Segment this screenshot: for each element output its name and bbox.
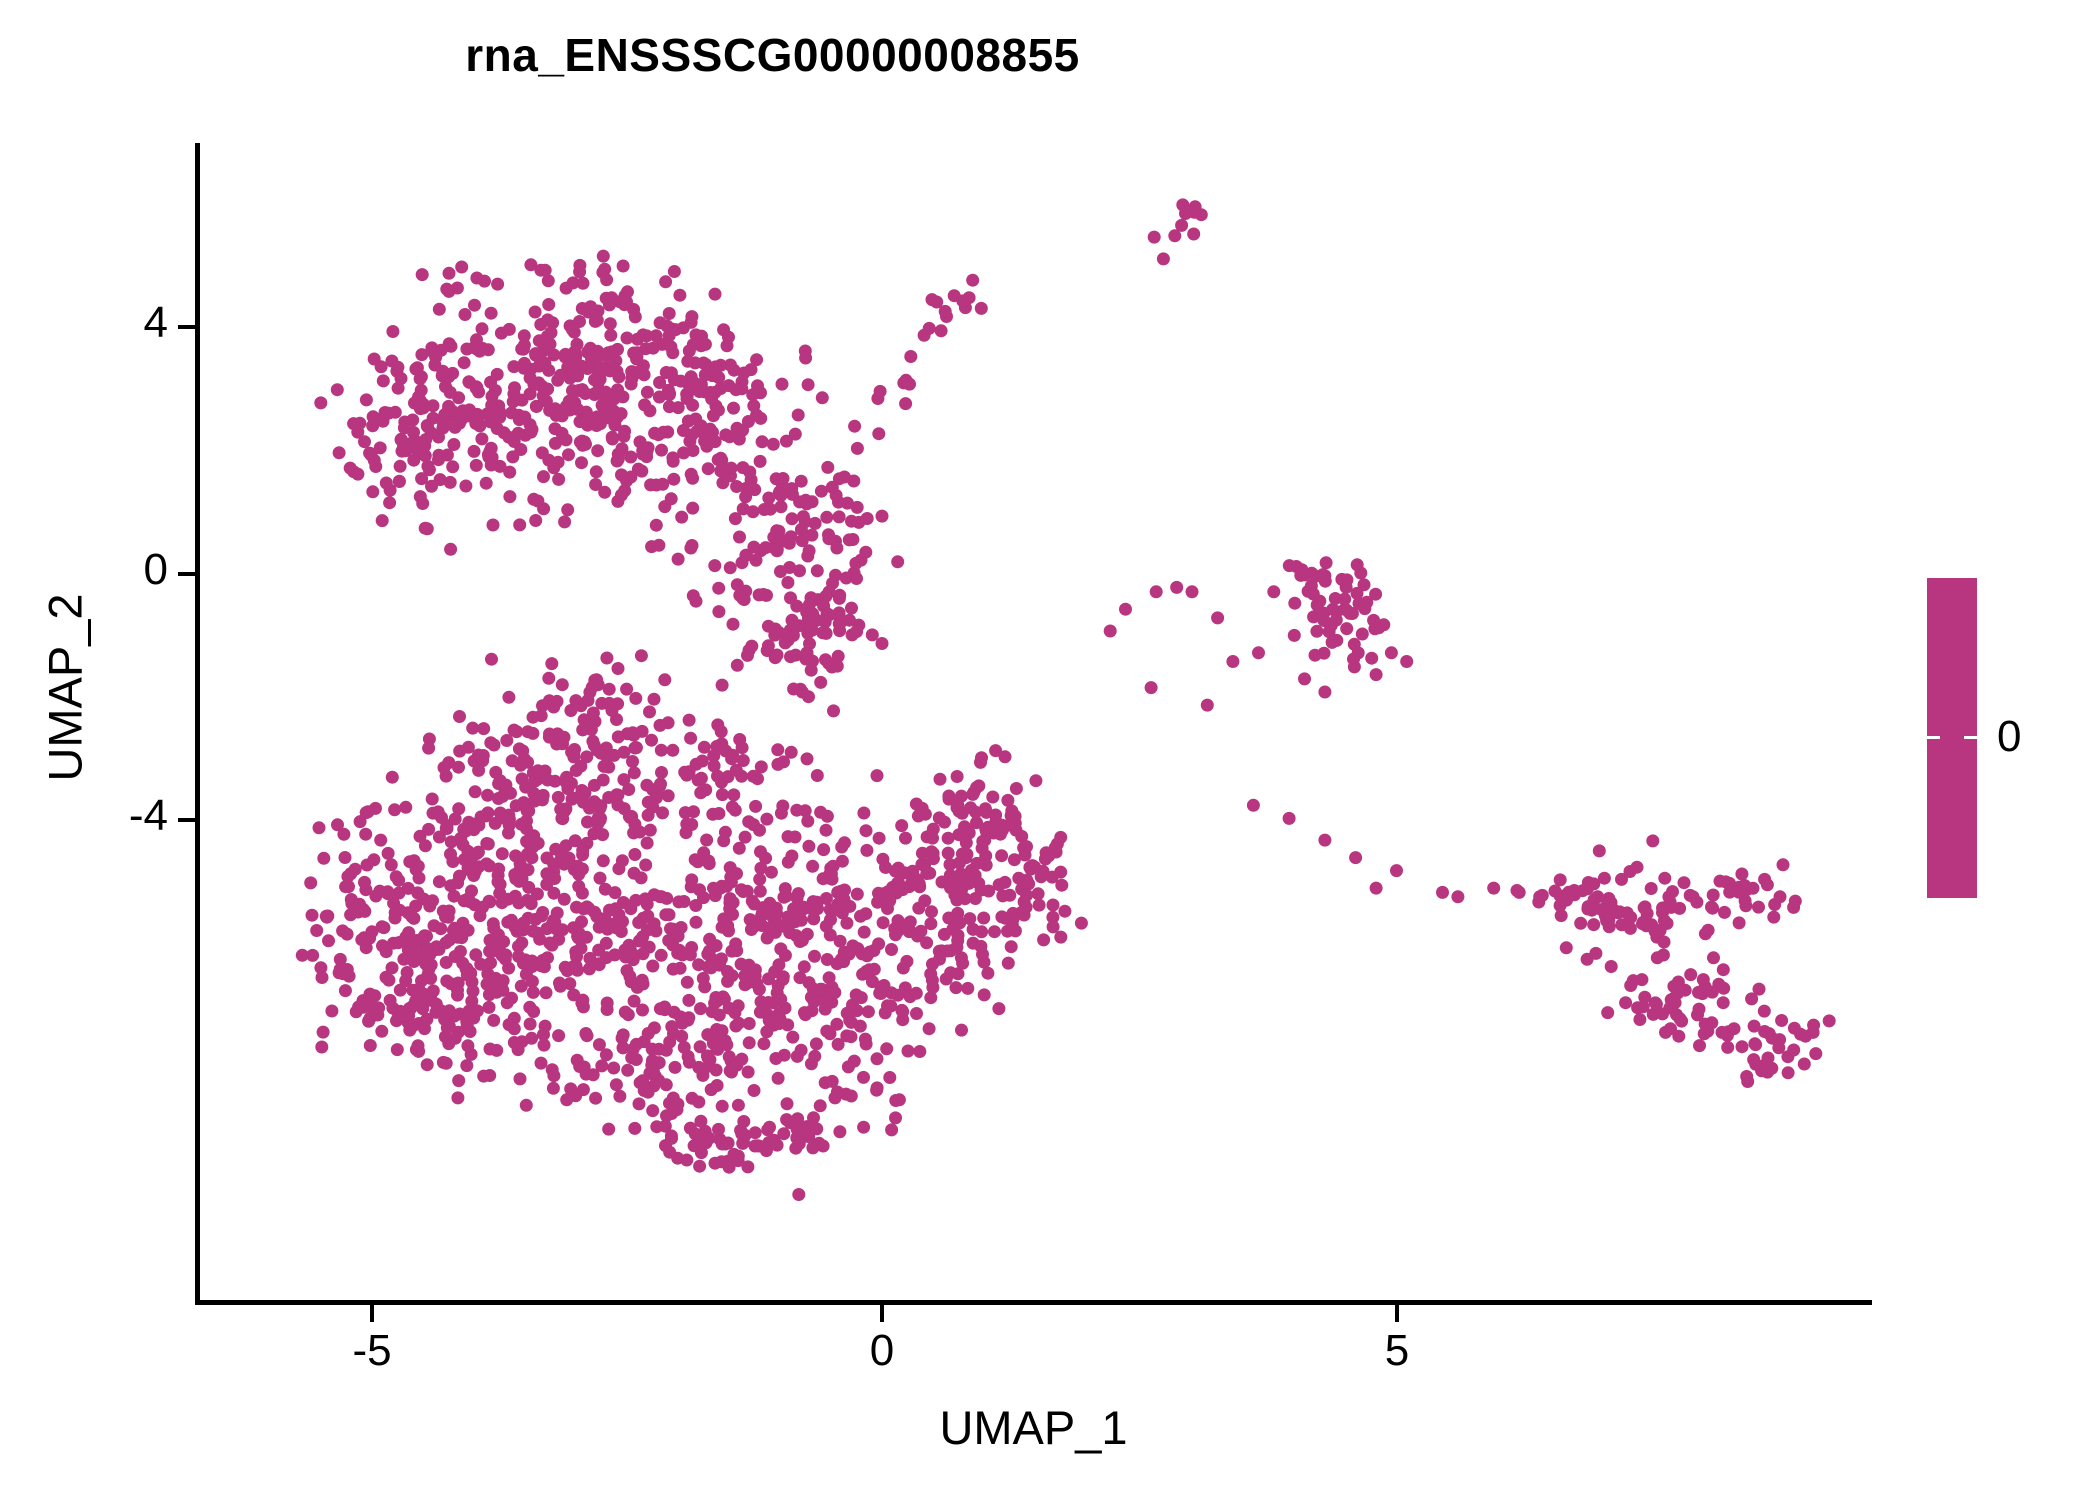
x-tick-mark--5 [370,1305,374,1322]
x-tick-label-5: 5 [1317,1326,1477,1376]
page-title: rna_ENSSSCG00000008855 [0,28,1545,82]
x-tick-mark-5 [1395,1305,1399,1322]
scatter-points [195,143,1872,1302]
colorbar-tick-right [1964,736,1977,739]
chart-canvas: rna_ENSSSCG00000008855 -5 0 5 4 0 -4 UMA… [0,0,2100,1500]
y-tick-mark-0 [178,572,195,576]
y-axis-label: UMAP_2 [38,408,93,968]
x-tick-label-0: 0 [802,1326,962,1376]
x-tick-label--5: -5 [292,1326,452,1376]
x-tick-mark-0 [880,1305,884,1322]
colorbar-tick-left [1927,736,1940,739]
y-tick-label-4: 4 [0,298,168,348]
y-tick-mark-4 [178,325,195,329]
x-axis-label: UMAP_1 [195,1400,1872,1455]
colorbar-legend[interactable]: 0 [1927,578,2087,898]
colorbar-tick-label-0: 0 [1997,712,2021,762]
points-group [296,198,1836,1201]
y-tick-mark--4 [178,818,195,822]
